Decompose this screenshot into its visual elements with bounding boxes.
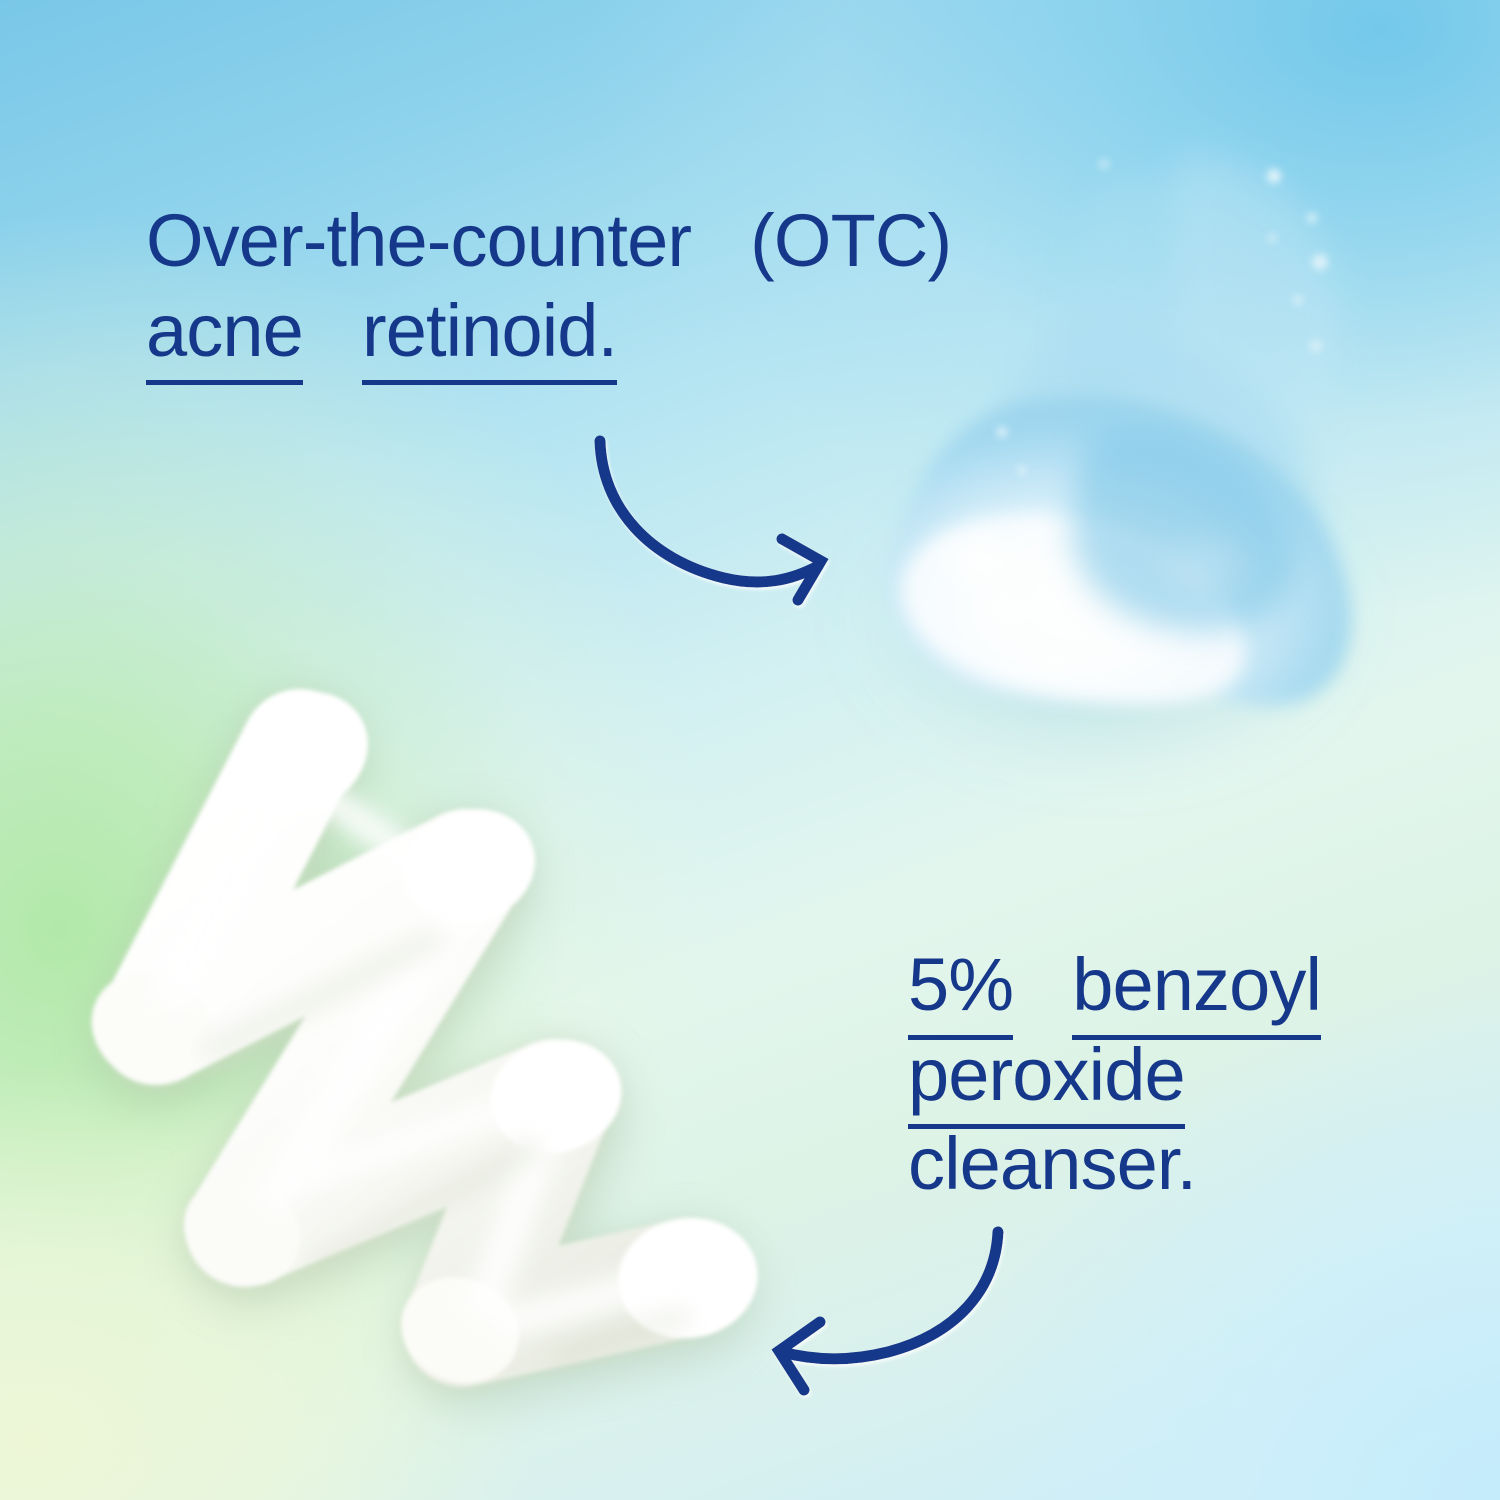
callout-otc-word-4: retinoid. [362, 286, 617, 376]
callout-bpo-line-3: cleanser. [908, 1119, 1321, 1209]
callout-otc-line-1: Over-the-counter (OTC) [146, 196, 951, 286]
callout-bpo-line-1: 5% benzoyl [908, 940, 1321, 1030]
callout-bpo-line-2: peroxide [908, 1030, 1321, 1120]
space [323, 289, 343, 372]
callout-bpo-word-1: 5% [908, 940, 1013, 1030]
product-hero-image: Over-the-counter (OTC) acne retinoid. 5%… [0, 0, 1500, 1500]
callout-otc-retinoid: Over-the-counter (OTC) acne retinoid. [146, 196, 951, 375]
callout-benzoyl-peroxide: 5% benzoyl peroxide cleanser. [908, 940, 1321, 1209]
callout-otc-word-3: acne [146, 286, 303, 376]
callout-otc-word-1: Over-the-counter [146, 196, 691, 286]
space [711, 199, 731, 282]
callout-bpo-word-2: benzoyl [1072, 940, 1321, 1030]
callout-otc-word-2: (OTC) [750, 196, 951, 286]
callout-bpo-word-3: peroxide [908, 1030, 1185, 1120]
callout-bpo-word-4: cleanser. [908, 1119, 1196, 1209]
callout-otc-line-2: acne retinoid. [146, 286, 951, 376]
space [1033, 943, 1053, 1026]
